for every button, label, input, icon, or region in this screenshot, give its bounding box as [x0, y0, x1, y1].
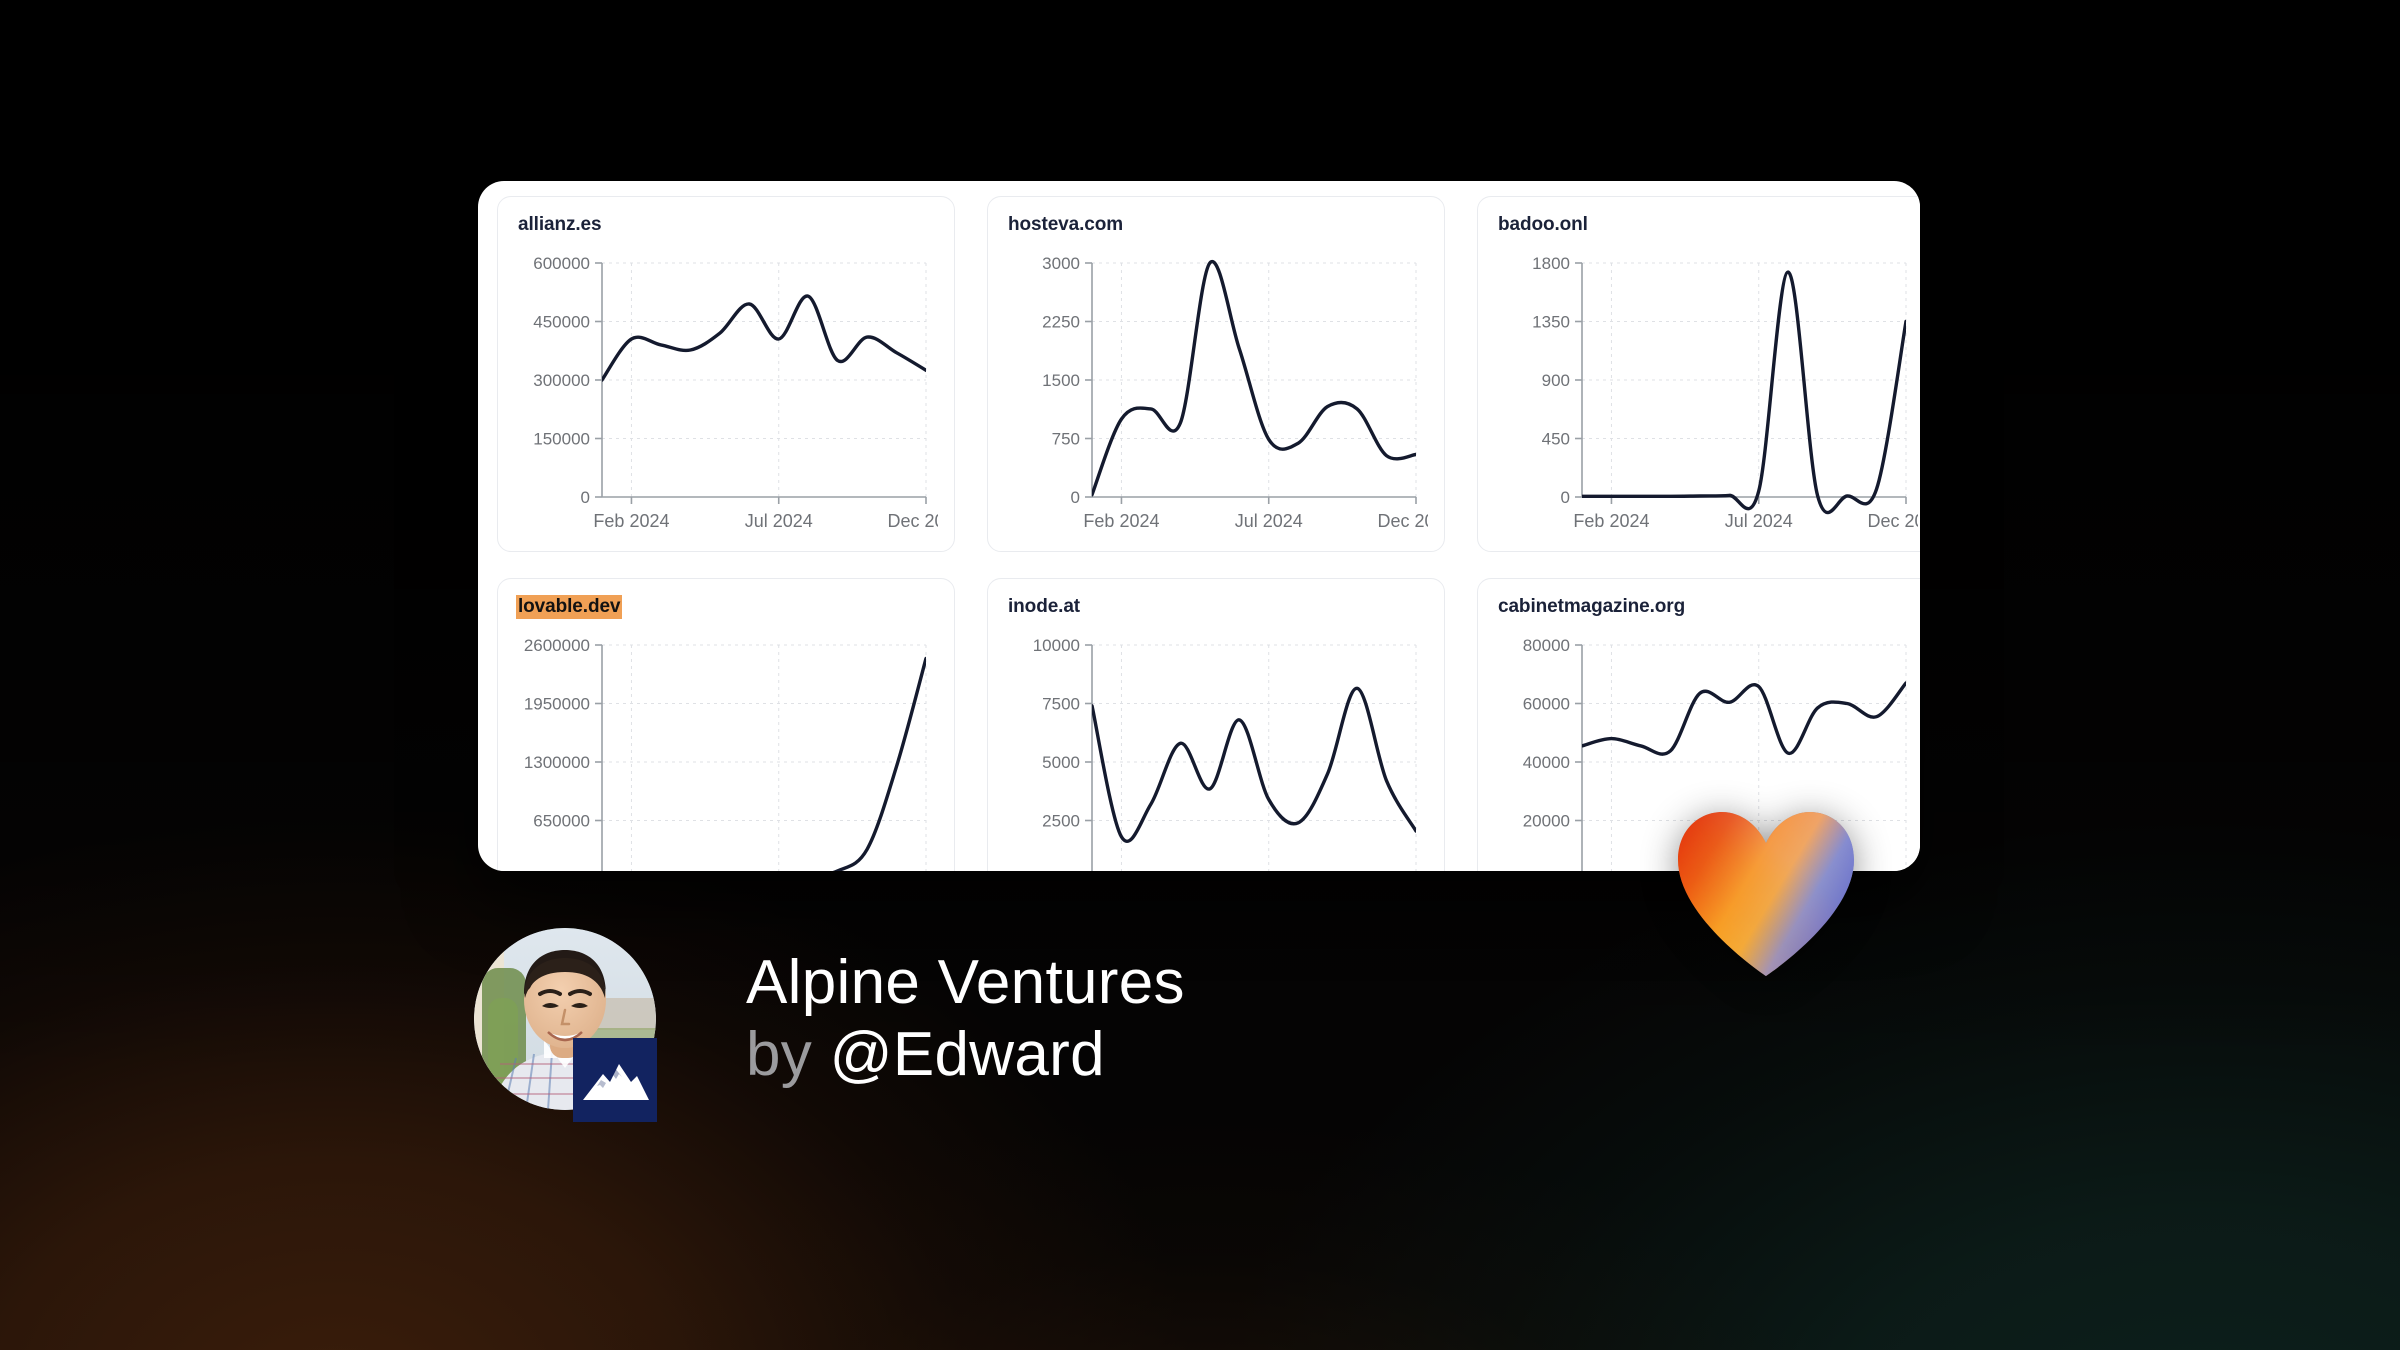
svg-text:900: 900	[1542, 371, 1570, 390]
chart-series-line	[1092, 688, 1416, 841]
svg-text:60000: 60000	[1523, 695, 1570, 714]
chart-series-line	[602, 659, 926, 872]
chart-title: cabinetmagazine.org	[1496, 595, 1687, 619]
svg-text:Jul 2024: Jul 2024	[1235, 511, 1303, 531]
by-word: by	[746, 1020, 812, 1089]
svg-text:0: 0	[1561, 488, 1570, 507]
chart-plot: 045090013501800Feb 2024Jul 2024Dec 2024	[1496, 245, 1918, 535]
svg-text:1800: 1800	[1532, 254, 1570, 273]
chart-title: hosteva.com	[1006, 213, 1125, 237]
svg-text:Dec 2024: Dec 2024	[1867, 511, 1918, 531]
svg-text:Feb 2024: Feb 2024	[593, 511, 669, 531]
svg-text:600000: 600000	[533, 254, 590, 273]
chart-title: allianz.es	[516, 213, 604, 237]
svg-text:7500: 7500	[1042, 695, 1080, 714]
chart-panel[interactable]: lovable.dev650000130000019500002600000	[497, 578, 955, 871]
chart-plot: 0150000300000450000600000Feb 2024Jul 202…	[516, 245, 938, 535]
chart-title: lovable.dev	[516, 595, 622, 619]
svg-text:Feb 2024: Feb 2024	[1573, 511, 1649, 531]
svg-text:80000: 80000	[1523, 636, 1570, 655]
avatar-with-badge	[474, 928, 656, 1110]
svg-text:0: 0	[1071, 488, 1080, 507]
brand-byline: by @Edward	[746, 1022, 1185, 1088]
svg-text:2600000: 2600000	[524, 636, 590, 655]
brand-title: Alpine Ventures	[746, 950, 1185, 1016]
chart-plot: 650000130000019500002600000	[516, 627, 938, 871]
svg-text:750: 750	[1052, 430, 1080, 449]
footer-attribution: Alpine Ventures by @Edward	[474, 928, 1185, 1110]
chart-title: inode.at	[1006, 595, 1082, 619]
author-handle[interactable]: @Edward	[830, 1020, 1105, 1089]
svg-text:Dec 2024: Dec 2024	[887, 511, 938, 531]
mountain-logo-badge	[573, 1038, 657, 1122]
svg-text:150000: 150000	[533, 430, 590, 449]
dashboard-card: allianz.es0150000300000450000600000Feb 2…	[478, 181, 1920, 871]
chart-panel[interactable]: hosteva.com0750150022503000Feb 2024Jul 2…	[987, 196, 1445, 552]
svg-text:5000: 5000	[1042, 753, 1080, 772]
heart-reaction-icon[interactable]	[1672, 810, 1860, 976]
chart-panel[interactable]: allianz.es0150000300000450000600000Feb 2…	[497, 196, 955, 552]
chart-plot: 0750150022503000Feb 2024Jul 2024Dec 2024	[1006, 245, 1428, 535]
chart-panel[interactable]: badoo.onl045090013501800Feb 2024Jul 2024…	[1477, 196, 1920, 552]
chart-series-line	[1582, 683, 1906, 754]
chart-series-line	[1582, 272, 1906, 512]
chart-series-line	[1092, 262, 1416, 495]
svg-text:1300000: 1300000	[524, 753, 590, 772]
chart-panel[interactable]: inode.at25005000750010000	[987, 578, 1445, 871]
svg-text:0: 0	[581, 488, 590, 507]
svg-text:1500: 1500	[1042, 371, 1080, 390]
svg-text:450000: 450000	[533, 313, 590, 332]
svg-text:2250: 2250	[1042, 313, 1080, 332]
chart-grid: allianz.es0150000300000450000600000Feb 2…	[497, 196, 1917, 871]
chart-series-line	[602, 296, 926, 380]
svg-text:300000: 300000	[533, 371, 590, 390]
svg-text:Dec 2024: Dec 2024	[1377, 511, 1428, 531]
chart-plot: 25005000750010000	[1006, 627, 1428, 871]
svg-text:10000: 10000	[1033, 636, 1080, 655]
svg-text:1350: 1350	[1532, 313, 1570, 332]
svg-text:2500: 2500	[1042, 812, 1080, 831]
svg-text:40000: 40000	[1523, 753, 1570, 772]
svg-text:3000: 3000	[1042, 254, 1080, 273]
svg-text:1950000: 1950000	[524, 695, 590, 714]
svg-text:Jul 2024: Jul 2024	[1725, 511, 1793, 531]
svg-text:450: 450	[1542, 430, 1570, 449]
chart-title: badoo.onl	[1496, 213, 1590, 237]
svg-text:Jul 2024: Jul 2024	[745, 511, 813, 531]
svg-text:Feb 2024: Feb 2024	[1083, 511, 1159, 531]
svg-text:650000: 650000	[533, 812, 590, 831]
svg-text:20000: 20000	[1523, 812, 1570, 831]
footer-text-block: Alpine Ventures by @Edward	[746, 950, 1185, 1087]
